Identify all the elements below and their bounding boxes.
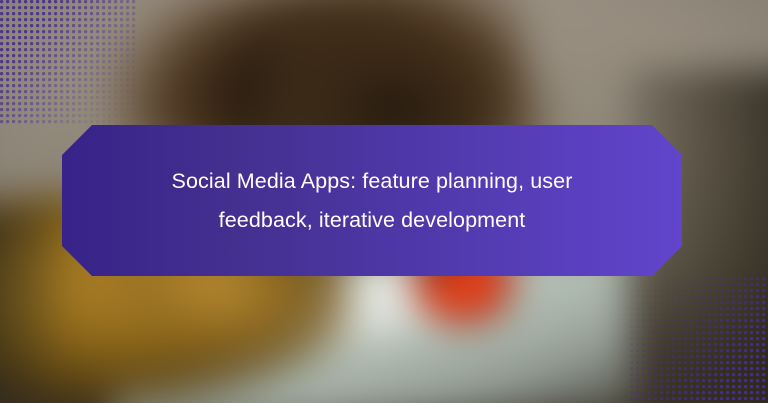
banner-title: Social Media Apps: feature planning, use… bbox=[106, 162, 639, 240]
title-card: Social Media Apps: feature planning, use… bbox=[62, 125, 682, 276]
banner-canvas: Social Media Apps: feature planning, use… bbox=[0, 0, 768, 403]
